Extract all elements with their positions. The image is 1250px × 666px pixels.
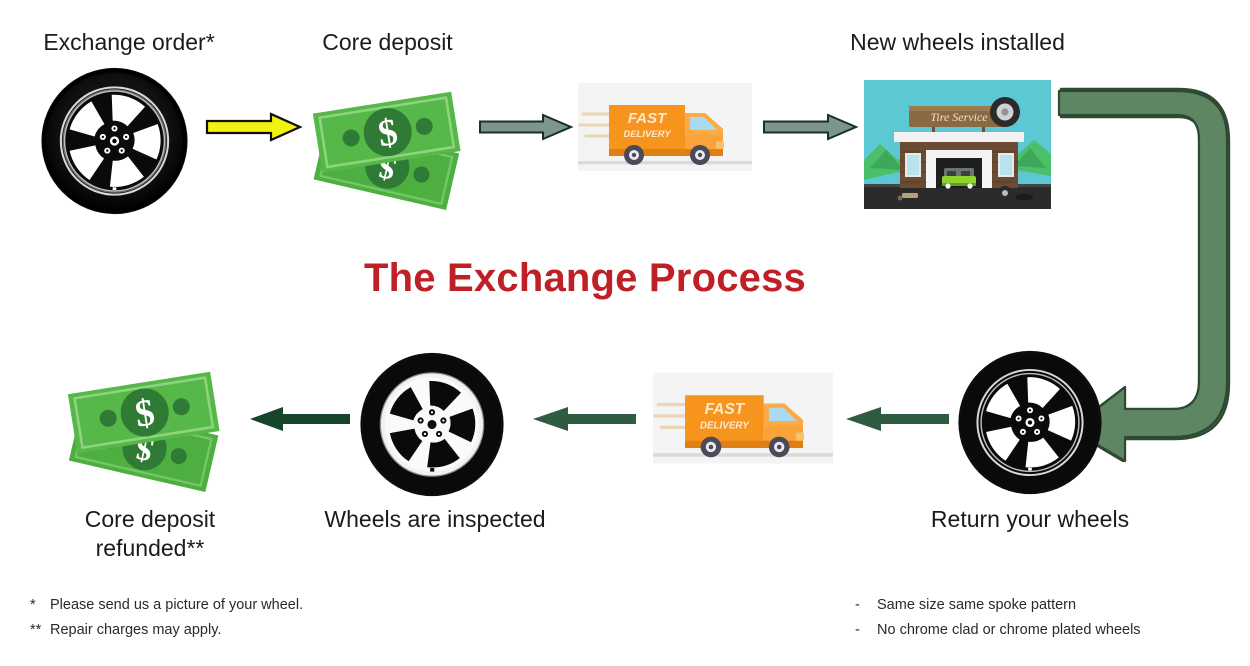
footnotes-left: *Please send us a picture of your wheel.… xyxy=(30,593,550,644)
svg-text:DELIVERY: DELIVERY xyxy=(700,420,750,431)
label-return-your-wheels: Return your wheels xyxy=(890,505,1170,534)
label-wheels-are-inspected: Wheels are inspected xyxy=(290,505,580,534)
svg-text:FAST: FAST xyxy=(705,401,746,418)
arrow-order-to-deposit xyxy=(205,112,302,142)
svg-text:DELIVERY: DELIVERY xyxy=(623,129,672,140)
label-core-deposit-refunded: Core deposit refunded** xyxy=(30,505,270,564)
exchange-process-diagram: Exchange order* xyxy=(0,0,1250,666)
label-core-deposit-refunded-line1: Core deposit xyxy=(30,505,270,534)
label-core-deposit-refunded-line2: refunded** xyxy=(30,534,270,563)
footnote-left-2: **Repair charges may apply. xyxy=(30,618,550,643)
wheel-light-icon xyxy=(357,352,507,497)
delivery-truck-icon: FAST DELIVERY xyxy=(578,83,752,171)
tire-service-shop-icon: Tire Service xyxy=(864,80,1051,209)
label-exchange-order: Exchange order* xyxy=(0,28,258,57)
label-new-wheels-installed: New wheels installed xyxy=(805,28,1110,57)
arrow-inspection-to-refund xyxy=(247,405,352,433)
wheel-return-icon xyxy=(955,350,1105,495)
footnote-left-2-marker: ** xyxy=(30,618,50,643)
shop-sign-text: Tire Service xyxy=(930,110,988,124)
footnote-right-2-marker: - xyxy=(855,618,877,643)
page-title: The Exchange Process xyxy=(0,256,1170,301)
arrow-shipping-to-inspection xyxy=(530,405,638,433)
label-core-deposit: Core deposit xyxy=(295,28,480,57)
arrow-shipping-to-install xyxy=(762,112,858,142)
footnote-left-2-text: Repair charges may apply. xyxy=(50,622,221,638)
wheel-dark-icon xyxy=(37,67,192,215)
svg-text:FAST: FAST xyxy=(628,110,668,127)
footnotes-right: -Same size same spoke pattern -No chrome… xyxy=(855,593,1245,644)
delivery-truck-return-icon: FAST DELIVERY xyxy=(653,372,833,464)
footnote-right-1: -Same size same spoke pattern xyxy=(855,593,1245,618)
footnote-right-2: -No chrome clad or chrome plated wheels xyxy=(855,618,1245,643)
money-bills-icon: $ $ xyxy=(305,72,473,208)
arrow-return-to-shipping xyxy=(843,405,951,433)
footnote-right-1-marker: - xyxy=(855,593,877,618)
footnote-left-1-text: Please send us a picture of your wheel. xyxy=(50,597,303,613)
arrow-deposit-to-shipping xyxy=(478,112,573,142)
footnote-right-1-text: Same size same spoke pattern xyxy=(877,597,1076,613)
footnote-right-2-text: No chrome clad or chrome plated wheels xyxy=(877,622,1141,638)
footnote-left-1: *Please send us a picture of your wheel. xyxy=(30,593,550,618)
money-bills-refund-icon: $ $ xyxy=(58,352,238,492)
footnote-left-1-marker: * xyxy=(30,593,50,618)
